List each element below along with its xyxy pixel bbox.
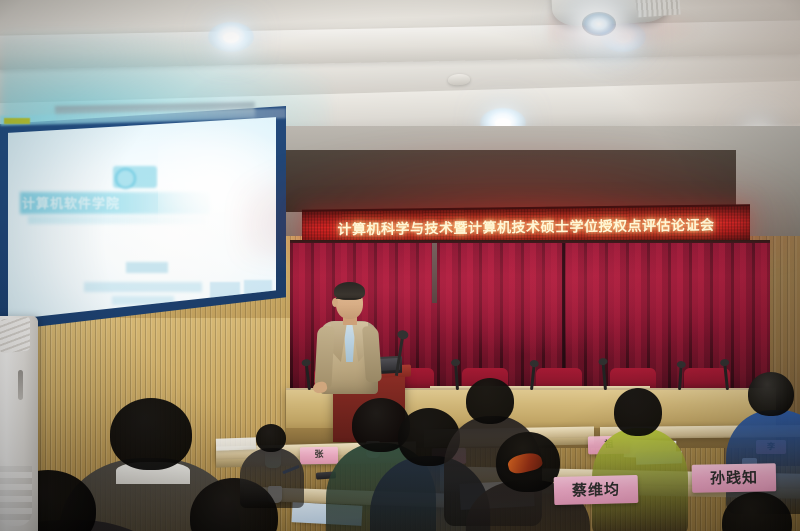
air-conditioner-base bbox=[0, 466, 32, 526]
audience-member-head bbox=[748, 372, 794, 416]
name-placard: 蔡维均 bbox=[554, 475, 639, 505]
audience-member-head bbox=[110, 398, 192, 470]
name-placard-text: 蔡维均 bbox=[572, 482, 620, 498]
slide-thumbnail bbox=[208, 304, 242, 320]
screen-glare bbox=[158, 124, 276, 244]
presenter bbox=[314, 282, 384, 392]
slide-body-line bbox=[84, 282, 202, 292]
name-placard-text: 张 bbox=[314, 451, 323, 460]
screen-label-tab bbox=[4, 118, 30, 124]
slide-logo-icon bbox=[113, 166, 157, 188]
projector-lens-icon bbox=[582, 12, 616, 36]
curtain-center-gap bbox=[432, 243, 437, 303]
conference-hall-photo: 计算机软件学院 计算机科学与技术暨计算机技术硕士学位授权点评估论证会 bbox=[0, 0, 800, 531]
audience-member-head bbox=[256, 424, 286, 452]
screen-surface: 计算机软件学院 bbox=[8, 114, 276, 324]
name-placard-text: 孙践知 bbox=[710, 470, 758, 486]
slide-thumbnail bbox=[246, 304, 274, 320]
air-conditioner-display bbox=[18, 370, 23, 400]
document-sheet bbox=[216, 437, 256, 450]
name-placard: 孙践知 bbox=[692, 463, 776, 492]
audience-member-head bbox=[614, 388, 662, 436]
projection-screen: 计算机软件学院 bbox=[0, 106, 286, 336]
audience-member-head bbox=[466, 378, 514, 424]
floor-air-conditioner bbox=[0, 316, 38, 531]
banner-text: 计算机科学与技术暨计算机技术硕士学位授权点评估论证会 bbox=[338, 215, 715, 240]
name-placard: 张 bbox=[300, 447, 338, 465]
upper-dark-wall bbox=[276, 150, 736, 212]
air-conditioner-grille bbox=[0, 316, 30, 353]
audience-member-torso bbox=[240, 448, 304, 508]
ceiling-downlight-icon bbox=[208, 22, 254, 52]
curtain-seam bbox=[562, 243, 565, 373]
presenter-glasses-icon bbox=[336, 298, 361, 304]
presenter-arm-left bbox=[314, 326, 334, 389]
projector-vent bbox=[635, 0, 680, 18]
slide-body-line bbox=[126, 262, 168, 273]
presenter-arm-right bbox=[362, 326, 382, 383]
